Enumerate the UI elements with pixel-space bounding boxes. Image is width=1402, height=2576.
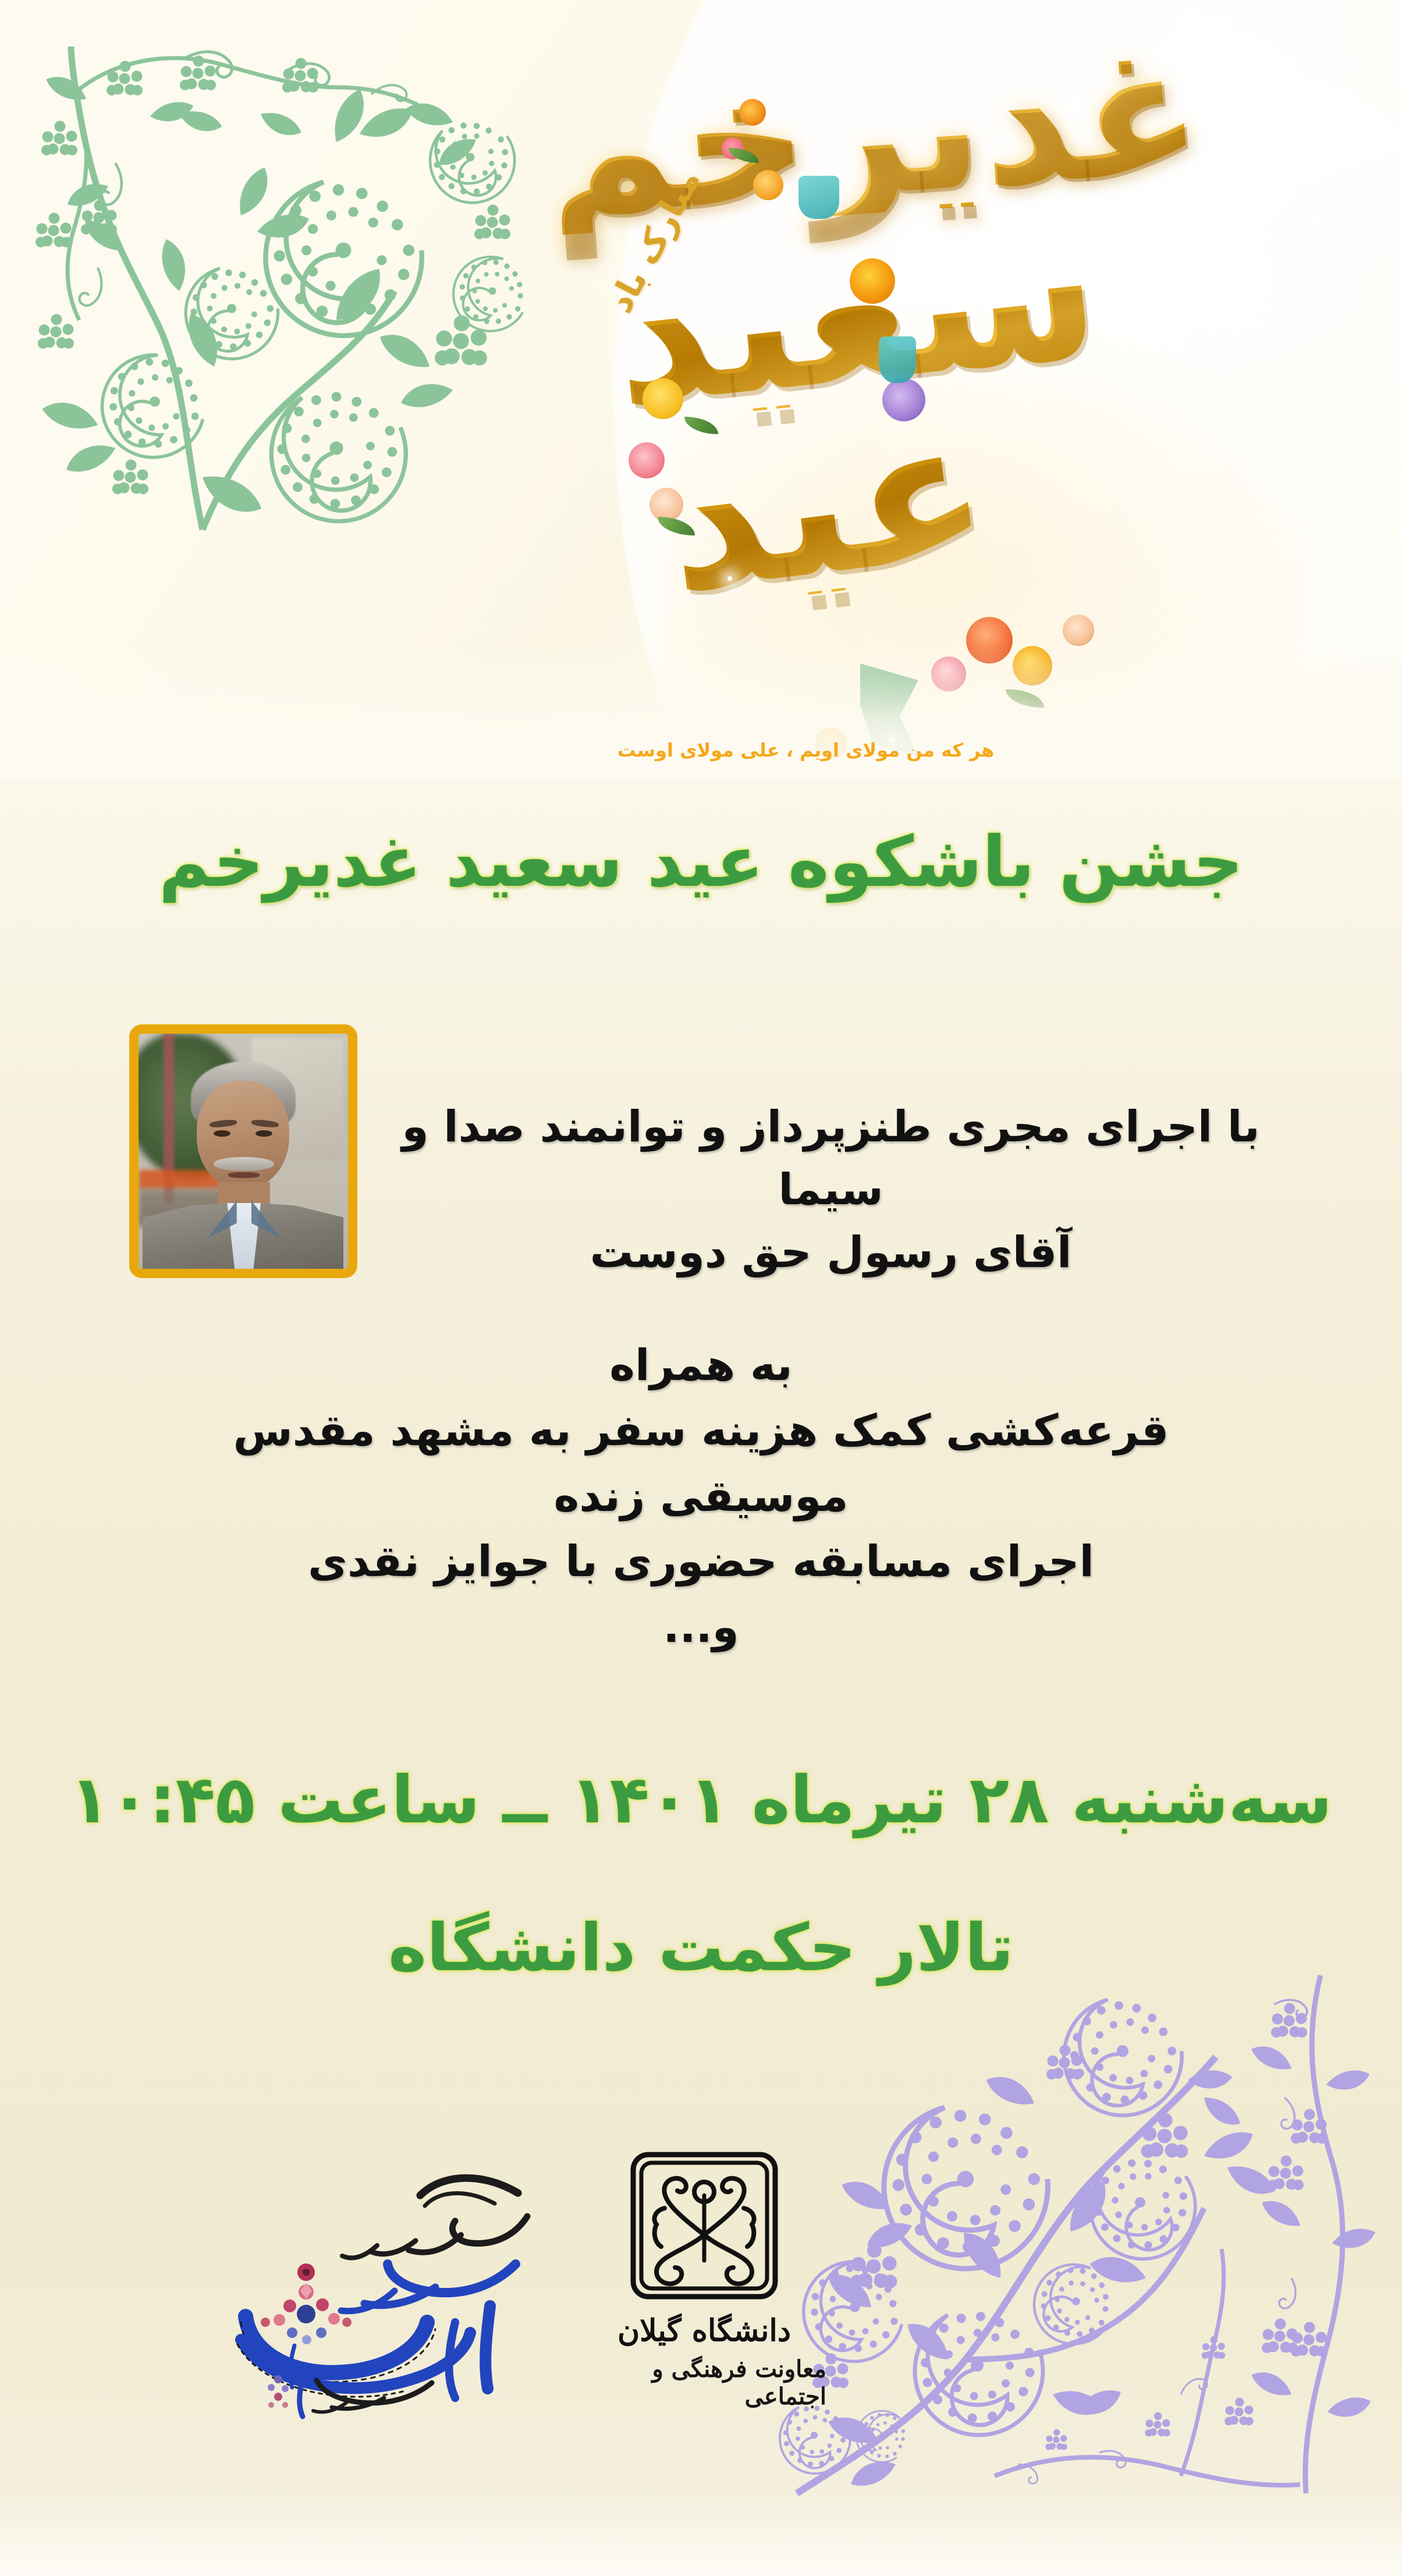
gilan-university-emblem-icon bbox=[626, 2148, 782, 2304]
logo-nahad-rahbari bbox=[192, 2148, 553, 2421]
program-heading: به همراه bbox=[0, 1333, 1402, 1398]
event-datetime: سه‌شنبه ۲۸ تیرماه ۱۴۰۱ ــ ساعت ۱۰:۴۵ bbox=[0, 1762, 1402, 1838]
program-item: و... bbox=[0, 1595, 1402, 1660]
hadith-motto: هر که من مولای اویم ، علی مولای اوست bbox=[0, 739, 1402, 761]
flower-icon bbox=[753, 170, 783, 200]
program-item: موسیقی زنده bbox=[0, 1464, 1402, 1529]
teal-accent-shape bbox=[879, 336, 916, 383]
page-title: جشن باشکوه عید سعید غدیرخم bbox=[0, 822, 1402, 903]
event-poster: غدیرخم سعید عید مبارک باد هر که من مولای bbox=[0, 0, 1402, 2576]
event-venue: تالار حکمت دانشگاه bbox=[0, 1910, 1402, 1986]
avatar bbox=[139, 1034, 348, 1269]
floral-vine-ornament-icon bbox=[773, 1952, 1402, 2569]
presenter-intro: با اجرای مجری طنزپرداز و توانمند صدا و س… bbox=[389, 1095, 1273, 1221]
eid-ghadir-calligraphy: غدیرخم سعید عید مبارک باد bbox=[524, 35, 1222, 722]
flower-icon bbox=[882, 378, 925, 421]
flower-icon bbox=[739, 99, 766, 126]
flower-icon bbox=[1063, 615, 1094, 646]
flower-icon bbox=[649, 488, 683, 521]
sparkle-icon bbox=[908, 290, 914, 296]
header-banner: غدیرخم سعید عید مبارک باد هر که من مولای bbox=[0, 0, 1402, 780]
presenter-section: با اجرای مجری طنزپرداز و توانمند صدا و س… bbox=[0, 1024, 1402, 1284]
logo-university-gilan: دانشگاه گیلان معاونت فرهنگی و اجتماعی bbox=[582, 2148, 826, 2427]
floral-vine-ornament-icon bbox=[10, 17, 534, 541]
flower-icon bbox=[643, 378, 683, 419]
university-name: دانشگاه گیلان bbox=[617, 2313, 791, 2348]
flower-icon bbox=[850, 258, 895, 304]
flower-icon bbox=[629, 442, 665, 478]
program-item: اجرای مسابقه حضوری با جوایز نقدی bbox=[0, 1529, 1402, 1594]
presenter-photo-frame bbox=[129, 1024, 357, 1278]
teal-accent-shape bbox=[798, 176, 839, 219]
presenter-name: آقای رسول حق دوست bbox=[389, 1221, 1273, 1284]
presenter-text-block: با اجرای مجری طنزپرداز و توانمند صدا و س… bbox=[365, 1024, 1273, 1284]
program-section: به همراه قرعه‌کشی کمک هزینه سفر به مشهد … bbox=[0, 1333, 1402, 1660]
program-item: قرعه‌کشی کمک هزینه سفر به مشهد مقدس bbox=[0, 1398, 1402, 1463]
university-department: معاونت فرهنگی و اجتماعی bbox=[582, 2355, 826, 2410]
sparkle-icon bbox=[727, 576, 732, 581]
